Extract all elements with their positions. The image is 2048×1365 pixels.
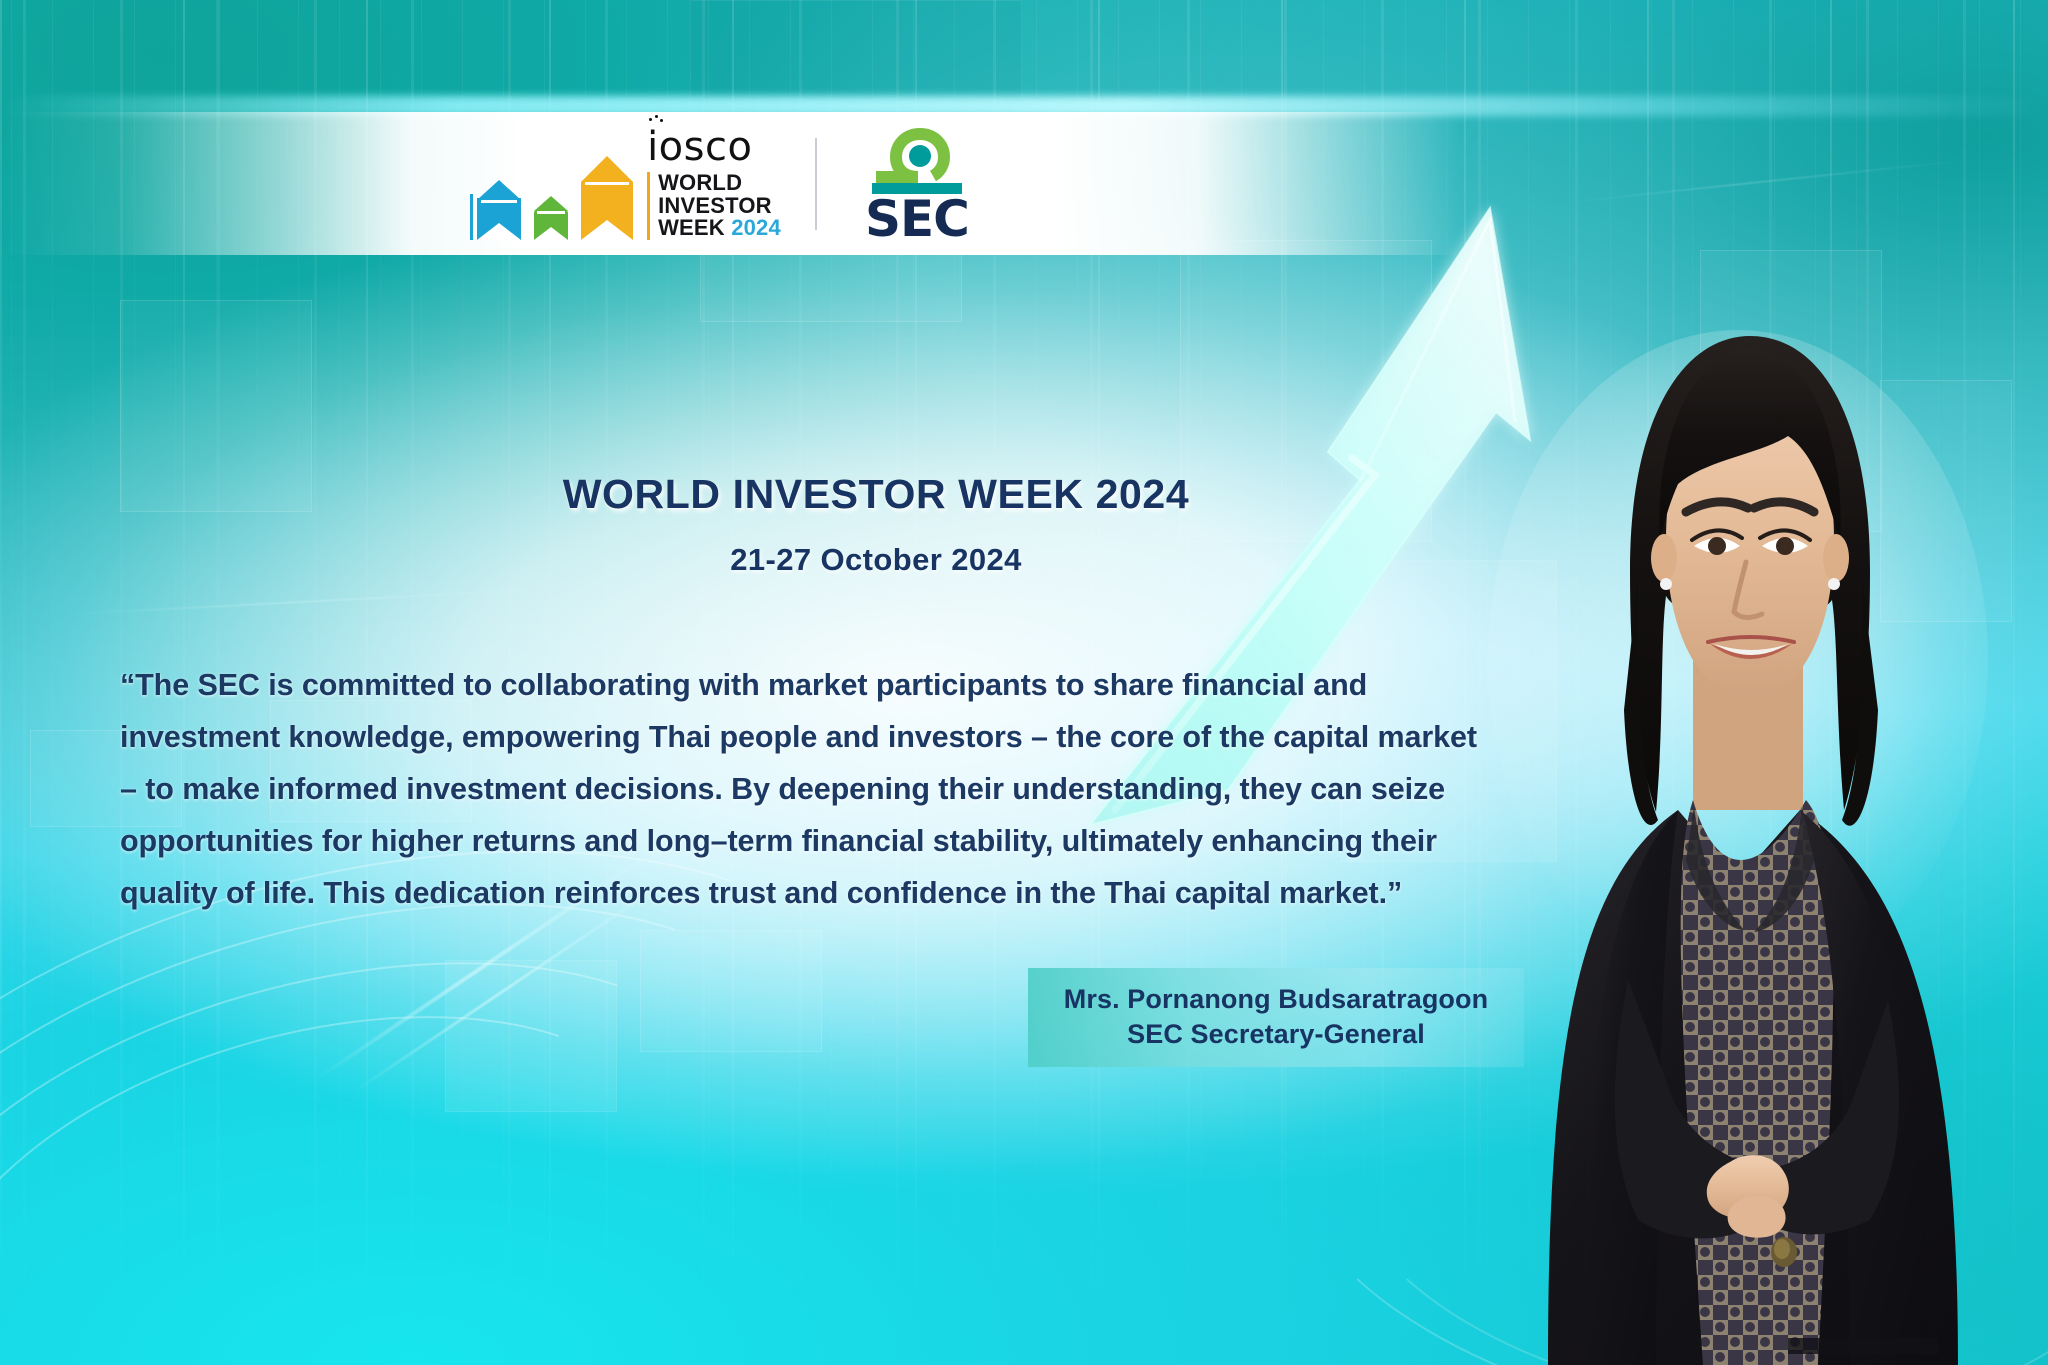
quote-text: “The SEC is committed to collaborating w… (120, 659, 1480, 919)
attribution-name: Mrs. Pornanong Budsaratragoon (1050, 982, 1502, 1017)
logo-row: iosco WORLD INVESTOR WEEK 2024 (0, 112, 1460, 255)
poster-canvas: iosco WORLD INVESTOR WEEK 2024 (0, 0, 2048, 1365)
iosco-pencil-skyline-icon (477, 156, 633, 240)
event-dates: 21-27 October 2024 (516, 542, 1236, 578)
iosco-line-world: WORLD (658, 172, 781, 195)
logo-divider (815, 138, 817, 230)
iosco-wordmark: iosco (647, 127, 781, 167)
iosco-tagline: WORLD INVESTOR WEEK 2024 (647, 172, 781, 241)
iosco-logo[interactable]: iosco WORLD INVESTOR WEEK 2024 (477, 127, 781, 241)
sec-wordmark: SEC (865, 197, 969, 242)
sec-abstract-mark-icon (854, 125, 980, 199)
iosco-line-year: 2024 (731, 215, 781, 240)
sec-secretary-general-portrait (1488, 240, 2048, 1365)
sec-logo[interactable]: SEC (851, 125, 983, 242)
iosco-line-investor: INVESTOR (658, 195, 781, 218)
page-title: WORLD INVESTOR WEEK 2024 (516, 471, 1236, 518)
attribution-box: Mrs. Pornanong Budsaratragoon SEC Secret… (1028, 968, 1524, 1067)
attribution-title: SEC Secretary-General (1050, 1017, 1502, 1052)
iosco-brand-text: iosco (647, 124, 752, 170)
iosco-dots-icon (649, 118, 665, 128)
iosco-line-week: WEEK (658, 215, 725, 240)
